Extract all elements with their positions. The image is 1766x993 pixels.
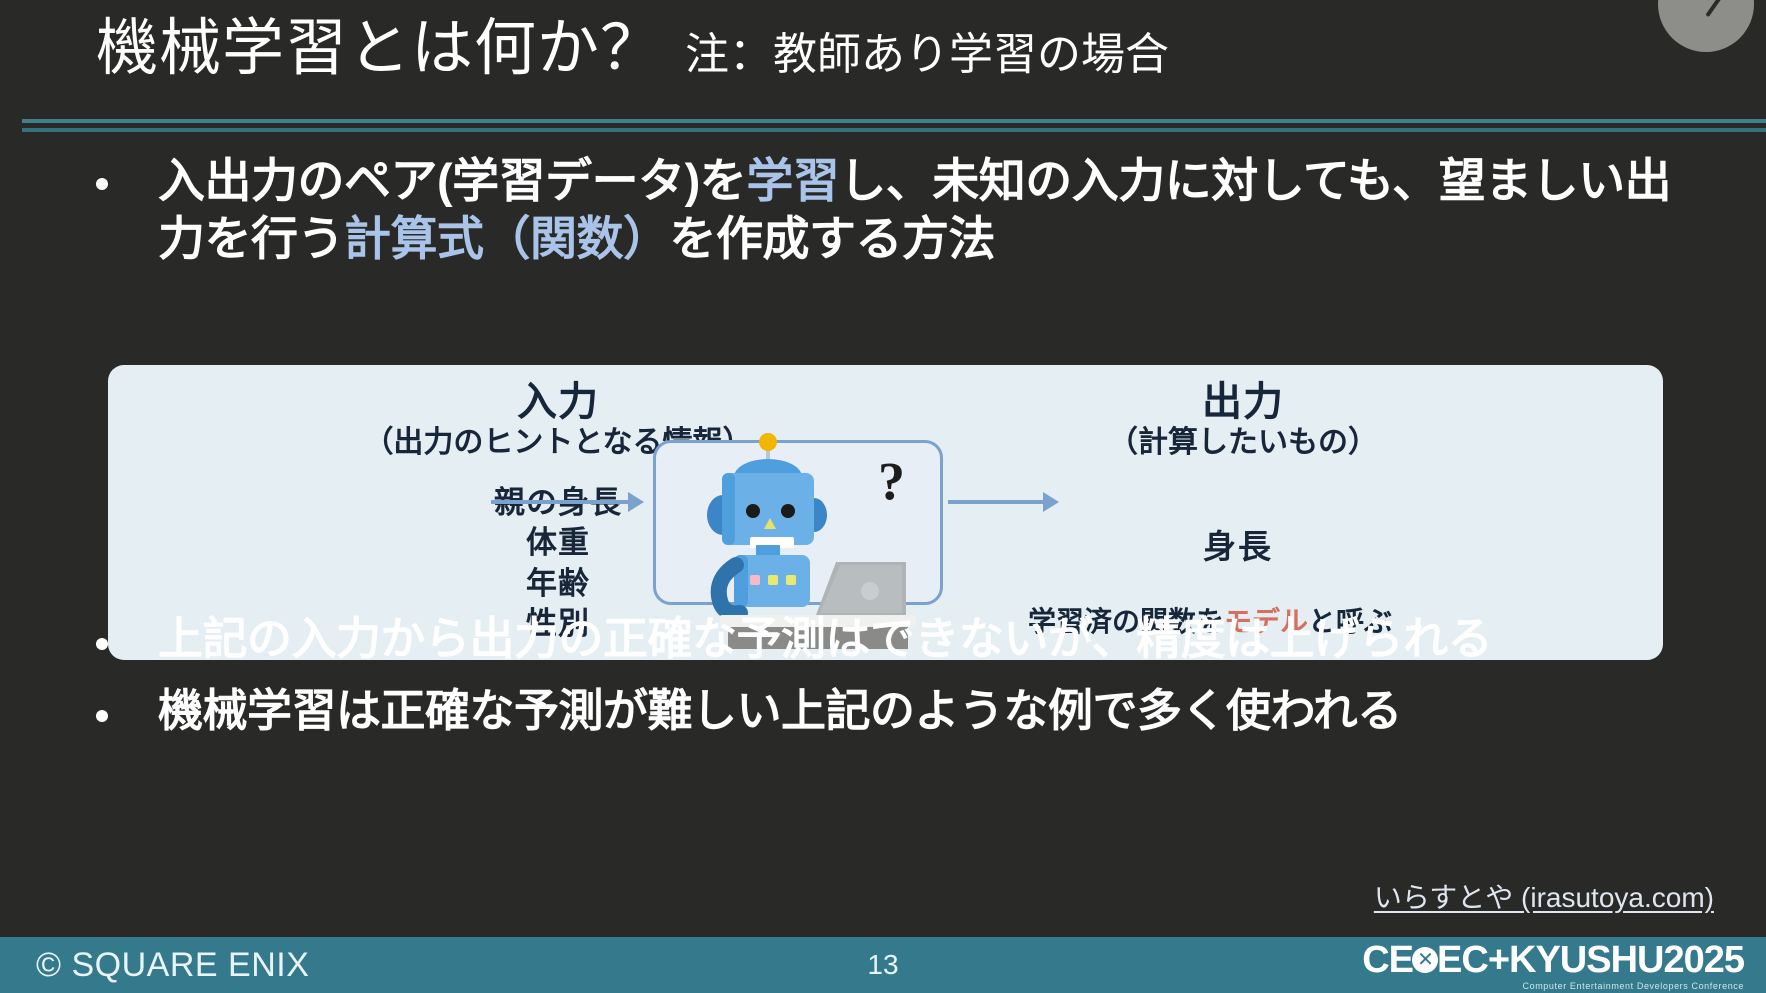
bullet-marker-icon xyxy=(96,178,108,190)
slide-canvas: 機械学習とは何か？ 注：教師あり学習の場合 入出力のペア(学習データ)を学習し、… xyxy=(0,0,1766,993)
title-divider-top xyxy=(22,119,1766,123)
input-item-1: 体重 xyxy=(438,523,678,563)
bullet-marker-icon xyxy=(96,638,108,650)
logo-part-3: +KYUSHU2025 xyxy=(1488,941,1744,979)
bullet-1-text: 入出力のペア(学習データ)を学習し、未知の入力に対しても、望ましい出力を行う計算… xyxy=(158,152,1706,268)
footer-bar: © SQUARE ENIX 13 CE✕EC+KYUSHU2025 Comput… xyxy=(0,937,1766,993)
logo-subtitle: Computer Entertainment Developers Confer… xyxy=(1523,981,1745,991)
input-arrow-line-icon xyxy=(491,500,631,504)
title-divider-bottom xyxy=(22,128,1766,132)
bullet-3-text: 機械学習は正確な予測が難しい上記のような例で多く使われる xyxy=(158,684,1402,738)
bullet-item-2: 上記の入力から出力の正確な予測はできないが、精度は上げられる xyxy=(96,612,1726,666)
bullet-1-seg-0: 入出力のペア(学習データ)を xyxy=(158,154,746,207)
bullet-marker-icon xyxy=(96,710,108,722)
attribution-link[interactable]: いらすとや (irasutoya.com) xyxy=(1374,876,1714,916)
logo-x-icon: ✕ xyxy=(1412,947,1438,973)
output-value: 身長 xyxy=(1108,520,1368,568)
bullet-item-1: 入出力のペア(学習データ)を学習し、未知の入力に対しても、望ましい出力を行う計算… xyxy=(96,152,1706,268)
title-note-text: 注：教師あり学習の場合 xyxy=(685,18,1169,82)
output-arrow-head-icon xyxy=(1043,492,1059,512)
input-item-2: 年齢 xyxy=(438,564,678,604)
bullet-1-seg-4: を作成する方法 xyxy=(670,212,996,265)
bullet-item-3: 機械学習は正確な予測が難しい上記のような例で多く使われる xyxy=(96,684,1726,738)
cedec-kyushu-logo: CE✕EC+KYUSHU2025 Computer Entertainment … xyxy=(1394,941,1744,991)
diagram-output-header: 出力 （計算したいもの） xyxy=(1043,381,1443,461)
logo-main-text: CE✕EC+KYUSHU2025 xyxy=(1362,941,1744,979)
bullet-1-seg-1: 学習 xyxy=(746,154,839,207)
bullet-1-seg-3: 計算式（関数） xyxy=(344,212,670,265)
bullet-2-text: 上記の入力から出力の正確な予測はできないが、精度は上げられる xyxy=(158,612,1492,666)
logo-part-0: CE xyxy=(1362,941,1413,979)
circle-needle-icon xyxy=(1705,0,1723,17)
page-title: 機械学習とは何か？ 注：教師あり学習の場合 xyxy=(96,16,1706,108)
output-subheading: （計算したいもの） xyxy=(1043,425,1443,461)
input-heading: 入力 xyxy=(358,381,758,423)
output-heading: 出力 xyxy=(1043,381,1443,423)
title-main-text: 機械学習とは何か？ xyxy=(96,16,663,81)
logo-part-2: EC xyxy=(1437,941,1488,979)
output-arrow-line-icon xyxy=(948,500,1046,504)
input-arrow-head-icon xyxy=(628,492,644,512)
